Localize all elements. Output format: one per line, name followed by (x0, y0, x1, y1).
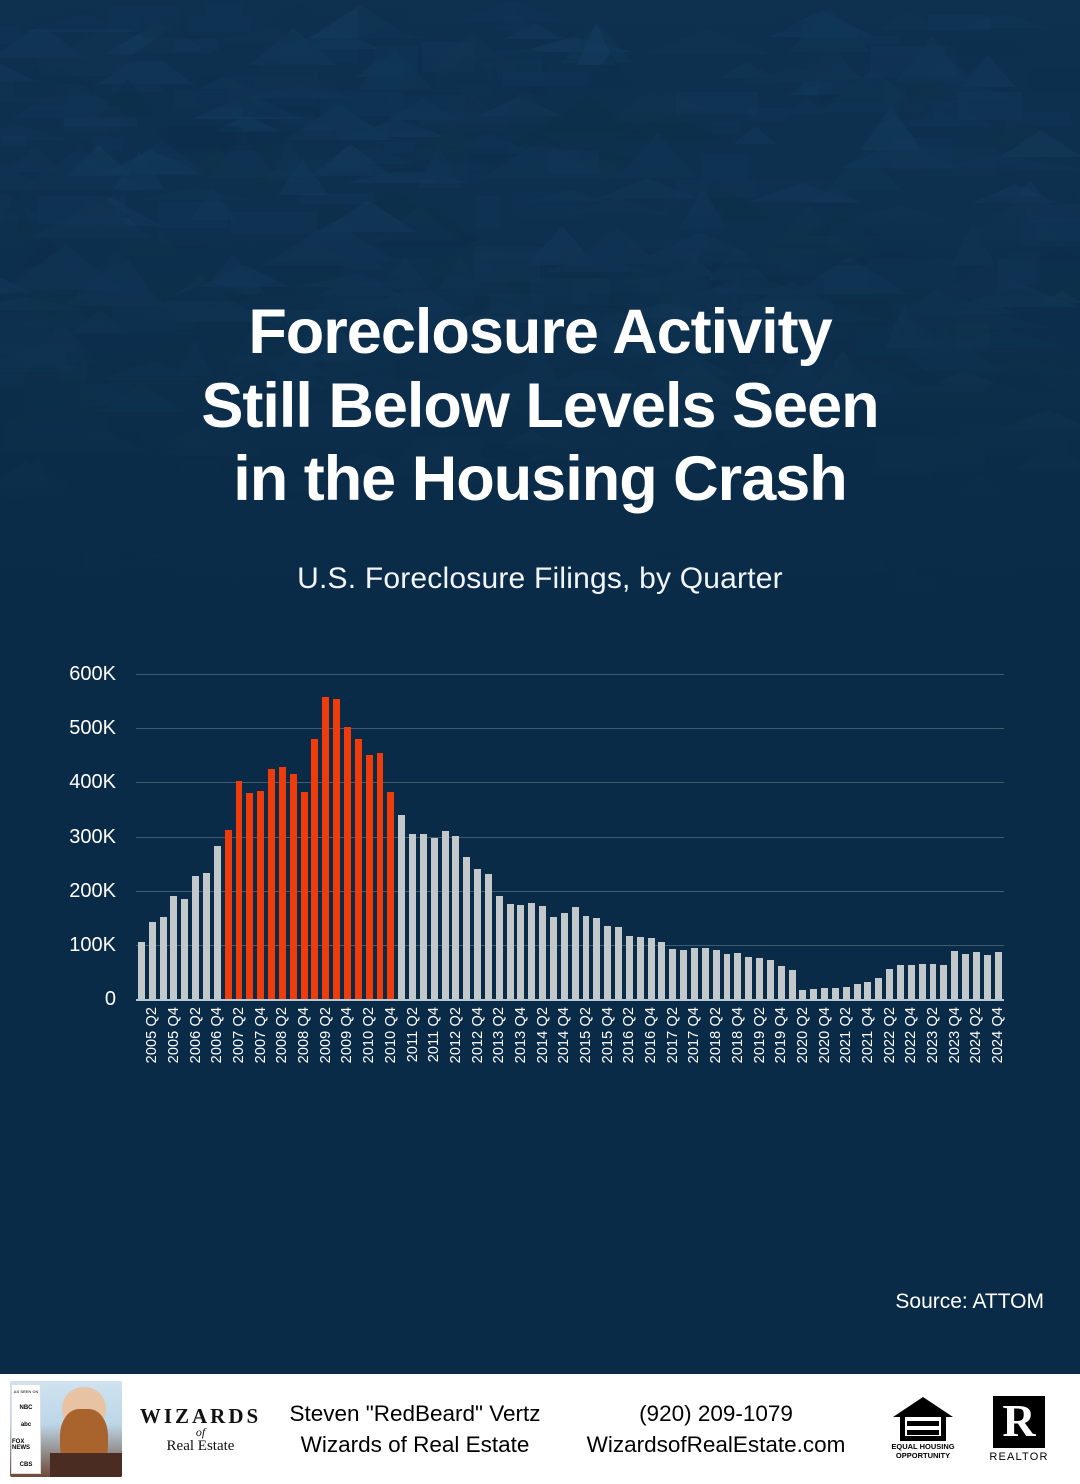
chart-bar-slot (700, 674, 711, 999)
chart-bar-slot (526, 674, 537, 999)
chart-bar (463, 857, 470, 999)
chart-bar-highlighted (301, 792, 308, 999)
house-body-shape (900, 1416, 946, 1441)
equal-housing-opportunity-logo: EQUAL HOUSING OPPORTUNITY (879, 1397, 967, 1460)
chart-bar-slot (255, 674, 266, 999)
x-axis-label-slot: 2007 Q4 (255, 1005, 266, 1090)
chart-bar-slot (429, 674, 440, 999)
chart-bar-slot (830, 674, 841, 999)
chart-bar (192, 876, 199, 1000)
logo-top-text: WIZARDS (140, 1404, 261, 1429)
chart-bar-slot (147, 674, 158, 999)
x-axis-label-slot: 2020 Q2 (797, 1005, 808, 1090)
x-axis-label-slot: 2005 Q2 (147, 1005, 158, 1090)
chart-bar-slot (906, 674, 917, 999)
x-axis-label-slot: 2011 Q2 (407, 1005, 418, 1090)
nbc-logo: NBC (20, 1405, 33, 1411)
x-axis-label-slot: 2023 Q2 (928, 1005, 939, 1090)
chart-bar (572, 907, 579, 999)
x-axis-label-slot: 2020 Q4 (819, 1005, 830, 1090)
chart-bar-slot (689, 674, 700, 999)
chart-bar-slot (917, 674, 928, 999)
chart-bar-highlighted (290, 774, 297, 999)
chart-bar-slot (852, 674, 863, 999)
chart-bar-slot (407, 674, 418, 999)
chart-bar-highlighted (268, 769, 275, 999)
chart-bar (789, 970, 796, 999)
chart-bar (930, 964, 937, 999)
x-axis-label-slot: 2024 Q2 (971, 1005, 982, 1090)
chart-bar (658, 942, 665, 999)
x-axis-label-slot: 2015 Q2 (581, 1005, 592, 1090)
chart-bar-slot (244, 674, 255, 999)
chart-bar-slot (136, 674, 147, 999)
chart-bar-slot (960, 674, 971, 999)
chart-bar (832, 988, 839, 999)
x-axis-label-slot: 2014 Q4 (559, 1005, 570, 1090)
x-axis-label-slot: 2016 Q2 (624, 1005, 635, 1090)
x-axis-label-slot: 2019 Q2 (754, 1005, 765, 1090)
chart-bar-slot (873, 674, 884, 999)
chart-bar (149, 922, 156, 999)
x-axis-line (136, 999, 1004, 1001)
chart-bar-slot (418, 674, 429, 999)
chart-bar (821, 988, 828, 999)
chart-bar-slot (450, 674, 461, 999)
x-axis-label-slot: 2008 Q4 (299, 1005, 310, 1090)
x-axis-label-slot: 2017 Q2 (667, 1005, 678, 1090)
realtor-label: REALTOR (989, 1451, 1048, 1463)
chart-bar-slot (516, 674, 527, 999)
chart-bar-slot (537, 674, 548, 999)
chart-bar-slot (884, 674, 895, 999)
x-axis-label-slot: 2010 Q2 (364, 1005, 375, 1090)
chart-plot-area: 600K500K400K300K200K100K0 (136, 674, 1004, 999)
agent-website[interactable]: WizardsofRealEstate.com (571, 1429, 861, 1460)
y-axis-tick-label: 600K (0, 663, 116, 686)
chart-bar-slot (223, 674, 234, 999)
chart-bar-highlighted (366, 755, 373, 999)
chart-bar-slot (808, 674, 819, 999)
chart-bar (897, 965, 904, 999)
chart-bar-highlighted (246, 793, 253, 999)
chart-bar (908, 965, 915, 999)
chart-bar-slot (819, 674, 830, 999)
chart-bar-highlighted (377, 753, 384, 999)
agent-contact: (920) 209-1079 WizardsofRealEstate.com (571, 1398, 861, 1460)
logo-bottom-text: Real Estate (167, 1438, 235, 1455)
chart-bar (138, 942, 145, 999)
chart-bar-highlighted (355, 739, 362, 999)
x-axis-label-slot: 2008 Q2 (277, 1005, 288, 1090)
chart-bar (420, 834, 427, 999)
chart-bar-slot (678, 674, 689, 999)
chart-bar (691, 948, 698, 999)
chart-bar (648, 938, 655, 999)
page-title: Foreclosure Activity Still Below Levels … (0, 296, 1080, 517)
chart-bar-slot (570, 674, 581, 999)
chart-bar-slot (732, 674, 743, 999)
chart-bar-highlighted (322, 697, 329, 999)
cbs-logo: CBS (20, 1462, 33, 1468)
chart-bar (919, 964, 926, 999)
chart-bar-slot (494, 674, 505, 999)
x-axis-label-slot: 2022 Q2 (884, 1005, 895, 1090)
chart-bar (181, 899, 188, 999)
chart-bar (517, 905, 524, 999)
house-icon (893, 1397, 953, 1441)
x-axis-label-slot: 2021 Q4 (863, 1005, 874, 1090)
source-attribution: Source: ATTOM (895, 1290, 1044, 1314)
chart-bar-slot (440, 674, 451, 999)
chart-bar (745, 957, 752, 999)
chart-bar (539, 906, 546, 999)
chart-bar (713, 950, 720, 999)
chart-bar (615, 927, 622, 999)
x-axis-label-slot: 2019 Q4 (776, 1005, 787, 1090)
x-axis-label-slot: 2014 Q2 (537, 1005, 548, 1090)
x-axis-label-slot: 2015 Q4 (602, 1005, 613, 1090)
chart-bar-slot (342, 674, 353, 999)
foreclosure-bar-chart: 600K500K400K300K200K100K0 2005 Q22005 Q4… (62, 660, 1022, 1080)
x-axis-label-slot: 2016 Q4 (646, 1005, 657, 1090)
chart-bar (452, 836, 459, 999)
house-roof-shape (893, 1397, 953, 1417)
chart-bar (973, 952, 980, 999)
chart-bar-slot (635, 674, 646, 999)
wizards-of-real-estate-logo: WIZARDS of Real Estate (138, 1404, 263, 1455)
chart-bar-highlighted (236, 781, 243, 999)
house-bar-lower (907, 1430, 939, 1435)
chart-bar (474, 869, 481, 999)
chart-bar (680, 950, 687, 999)
chart-bar (528, 903, 535, 999)
chart-bar-slot (266, 674, 277, 999)
chart-bar (724, 954, 731, 999)
chart-bar (875, 978, 882, 999)
x-axis-label-slot: 2005 Q4 (169, 1005, 180, 1090)
avatar-body (50, 1453, 122, 1477)
chart-bar-slot (613, 674, 624, 999)
headline-line-1: Foreclosure Activity (0, 296, 1080, 370)
chart-bar (995, 952, 1002, 999)
chart-bar (778, 966, 785, 999)
chart-bar-slot (754, 674, 765, 999)
chart-bar (799, 990, 806, 999)
y-axis-tick-label: 100K (0, 934, 116, 957)
chart-bar (160, 917, 167, 999)
agent-identity: Steven "RedBeard" Vertz Wizards of Real … (281, 1398, 549, 1460)
chart-bar-slot (179, 674, 190, 999)
chart-bar-slot (385, 674, 396, 999)
chart-bar-slot (548, 674, 559, 999)
headline-line-3: in the Housing Crash (0, 443, 1080, 517)
x-axis-label-slot: 2013 Q2 (494, 1005, 505, 1090)
fox-news-logo: FOX NEWS (12, 1439, 40, 1451)
x-axis-label-slot: 2013 Q4 (516, 1005, 527, 1090)
chart-bar (442, 831, 449, 999)
agent-avatar: AS SEEN ON NBC abc FOX NEWS CBS (10, 1381, 122, 1477)
chart-bar-slot (776, 674, 787, 999)
chart-bar (962, 954, 969, 999)
chart-bar (507, 904, 514, 999)
x-axis-label-slot: 2006 Q4 (212, 1005, 223, 1090)
chart-bar-slot (212, 674, 223, 999)
chart-bar (843, 987, 850, 999)
chart-bar (854, 984, 861, 999)
chart-bar-slot (895, 674, 906, 999)
x-axis-tick-label: 2024 Q4 (990, 1007, 1006, 1063)
agent-name: Steven "RedBeard" Vertz (281, 1398, 549, 1429)
chart-bar-slot (483, 674, 494, 999)
chart-bar-highlighted (333, 699, 340, 999)
chart-bar (951, 951, 958, 999)
chart-bar (398, 815, 405, 999)
chart-bar-slot (277, 674, 288, 999)
footer-bar: AS SEEN ON NBC abc FOX NEWS CBS WIZARDS … (0, 1374, 1080, 1484)
chart-bar-slot (472, 674, 483, 999)
agent-company: Wizards of Real Estate (281, 1429, 549, 1460)
chart-bar-slot (711, 674, 722, 999)
chart-bar-slot (722, 674, 733, 999)
chart-bar (604, 926, 611, 999)
chart-bar (485, 874, 492, 999)
chart-bar (561, 913, 568, 999)
x-axis-label-slot: 2022 Q4 (906, 1005, 917, 1090)
x-axis-label-slot: 2009 Q2 (320, 1005, 331, 1090)
chart-bar-slot (505, 674, 516, 999)
chart-bar-slot (787, 674, 798, 999)
y-axis-tick-label: 0 (0, 988, 116, 1011)
chart-bar-highlighted (257, 791, 264, 999)
chart-bar (864, 982, 871, 999)
chart-bar-slot (169, 674, 180, 999)
chart-bar (409, 834, 416, 999)
x-axis-tick-labels: 2005 Q22005 Q42006 Q22006 Q42007 Q22007 … (136, 1005, 1004, 1090)
y-axis-tick-label: 200K (0, 880, 116, 903)
chart-bar (886, 969, 893, 999)
chart-bar-slot (938, 674, 949, 999)
chart-bar-slot (646, 674, 657, 999)
chart-bar-highlighted (311, 739, 318, 999)
network-badges: AS SEEN ON NBC abc FOX NEWS CBS (11, 1384, 41, 1474)
equal-housing-text: EQUAL HOUSING OPPORTUNITY (891, 1443, 954, 1460)
chart-bar-highlighted (387, 792, 394, 999)
chart-bar (170, 896, 177, 999)
chart-bar-slot (863, 674, 874, 999)
chart-bar-slot (310, 674, 321, 999)
x-axis-label-slot: 2011 Q4 (429, 1005, 440, 1090)
chart-bar-slot (190, 674, 201, 999)
chart-bar-slot (320, 674, 331, 999)
chart-bar-slot (158, 674, 169, 999)
chart-bar-slot (667, 674, 678, 999)
realtor-logo: R REALTOR (973, 1396, 1065, 1463)
chart-subtitle: U.S. Foreclosure Filings, by Quarter (0, 562, 1080, 596)
chart-bar-slot (982, 674, 993, 999)
chart-bars (136, 674, 1004, 999)
chart-bar (550, 917, 557, 999)
x-axis-label-slot: 2006 Q2 (190, 1005, 201, 1090)
as-seen-on-label: AS SEEN ON (14, 1390, 39, 1394)
chart-bar (214, 846, 221, 999)
chart-bar (702, 948, 709, 999)
abc-logo: abc (21, 1422, 31, 1428)
chart-bar-highlighted (279, 767, 286, 999)
equal-housing-line-2: OPPORTUNITY (891, 1452, 954, 1461)
x-axis-label-slot: 2018 Q4 (732, 1005, 743, 1090)
chart-bar-slot (743, 674, 754, 999)
x-axis-label-slot: 2023 Q4 (949, 1005, 960, 1090)
chart-bar-slot (657, 674, 668, 999)
x-axis-label-slot: 2007 Q2 (234, 1005, 245, 1090)
y-axis-tick-label: 300K (0, 826, 116, 849)
house-bar-upper (907, 1421, 939, 1426)
chart-bar (203, 873, 210, 999)
realtor-r-mark: R (993, 1396, 1045, 1448)
chart-bar (431, 838, 438, 999)
chart-bar-slot (461, 674, 472, 999)
chart-bar (756, 958, 763, 999)
x-axis-label-slot: 2024 Q4 (993, 1005, 1004, 1090)
chart-bar (810, 989, 817, 999)
chart-bar (734, 953, 741, 999)
x-axis-label-slot: 2010 Q4 (385, 1005, 396, 1090)
chart-bar-slot (299, 674, 310, 999)
chart-bar (593, 918, 600, 999)
chart-bar-slot (591, 674, 602, 999)
x-axis-label-slot: 2018 Q2 (711, 1005, 722, 1090)
x-axis-label-slot: 2021 Q2 (841, 1005, 852, 1090)
chart-bar (637, 937, 644, 999)
x-axis-label-slot: 2009 Q4 (342, 1005, 353, 1090)
chart-bar-slot (765, 674, 776, 999)
chart-bar-slot (396, 674, 407, 999)
chart-bar-slot (353, 674, 364, 999)
agent-phone[interactable]: (920) 209-1079 (571, 1398, 861, 1429)
chart-bar-slot (234, 674, 245, 999)
chart-bar-slot (949, 674, 960, 999)
chart-bar-highlighted (225, 830, 232, 999)
chart-bar-slot (201, 674, 212, 999)
chart-bar-highlighted (344, 727, 351, 999)
chart-bar-slot (841, 674, 852, 999)
chart-bar-slot (288, 674, 299, 999)
chart-bar (626, 936, 633, 999)
chart-bar-slot (581, 674, 592, 999)
headline-line-2: Still Below Levels Seen (0, 370, 1080, 444)
chart-bar (669, 949, 676, 999)
chart-bar (940, 965, 947, 999)
chart-bar (767, 960, 774, 999)
chart-bar (583, 916, 590, 999)
chart-bar-slot (375, 674, 386, 999)
chart-bar (984, 955, 991, 999)
chart-bar-slot (602, 674, 613, 999)
chart-bar-slot (797, 674, 808, 999)
chart-bar-slot (331, 674, 342, 999)
chart-bar-slot (624, 674, 635, 999)
chart-bar-slot (928, 674, 939, 999)
chart-bar-slot (993, 674, 1004, 999)
y-axis-tick-label: 400K (0, 771, 116, 794)
x-axis-label-slot: 2017 Q4 (689, 1005, 700, 1090)
chart-bar-slot (559, 674, 570, 999)
y-axis-tick-label: 500K (0, 717, 116, 740)
chart-bar (496, 896, 503, 999)
x-axis-label-slot: 2012 Q2 (450, 1005, 461, 1090)
x-axis-label-slot: 2012 Q4 (472, 1005, 483, 1090)
chart-bar-slot (364, 674, 375, 999)
chart-bar-slot (971, 674, 982, 999)
